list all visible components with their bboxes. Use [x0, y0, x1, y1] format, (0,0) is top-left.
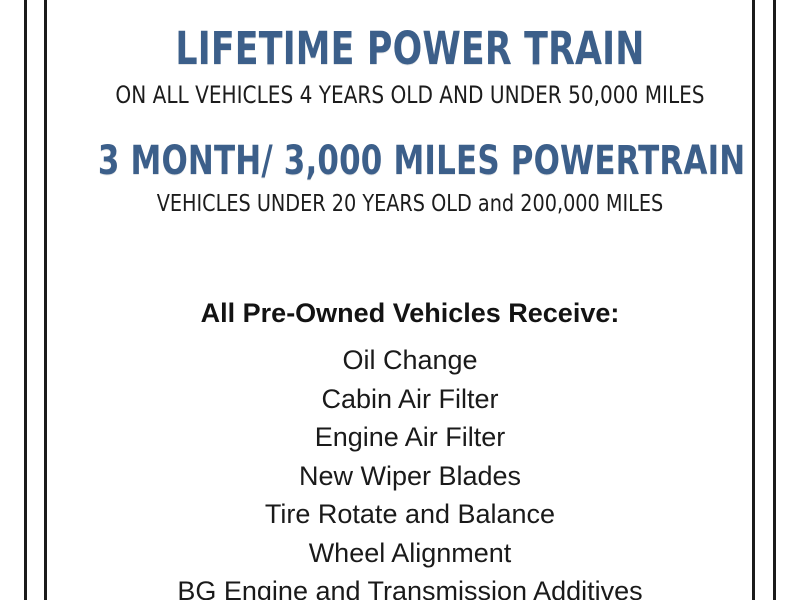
- offer-subline-3-month-powertrain: VEHICLES UNDER 20 YEARS OLD and 200,000 …: [72, 193, 747, 216]
- offer-headline-3-month-powertrain: 3 MONTH/ 3,000 MILES POWERTRAIN: [98, 141, 722, 181]
- list-item: Wheel Alignment: [47, 534, 773, 573]
- offer-headline-lifetime-power-train: LIFETIME POWER TRAIN: [98, 26, 722, 71]
- list-item: Cabin Air Filter: [47, 380, 773, 419]
- warranty-flyer: LIFETIME POWER TRAIN ON ALL VEHICLES 4 Y…: [0, 0, 800, 600]
- list-item: Tire Rotate and Balance: [47, 495, 773, 534]
- list-item: Oil Change: [47, 341, 773, 380]
- border-rule-outer-right: [773, 0, 776, 600]
- list-item: Engine Air Filter: [47, 418, 773, 457]
- service-list: Oil Change Cabin Air Filter Engine Air F…: [47, 341, 773, 600]
- services-heading: All Pre-Owned Vehicles Receive:: [47, 300, 773, 327]
- flyer-content: LIFETIME POWER TRAIN ON ALL VEHICLES 4 Y…: [47, 0, 773, 600]
- offer-subline-lifetime-power-train: ON ALL VEHICLES 4 YEARS OLD AND UNDER 50…: [72, 83, 747, 107]
- services-section: All Pre-Owned Vehicles Receive: Oil Chan…: [47, 300, 773, 600]
- list-item: New Wiper Blades: [47, 457, 773, 496]
- list-item: BG Engine and Transmission Additives: [47, 572, 773, 600]
- border-rule-outer-left: [24, 0, 27, 600]
